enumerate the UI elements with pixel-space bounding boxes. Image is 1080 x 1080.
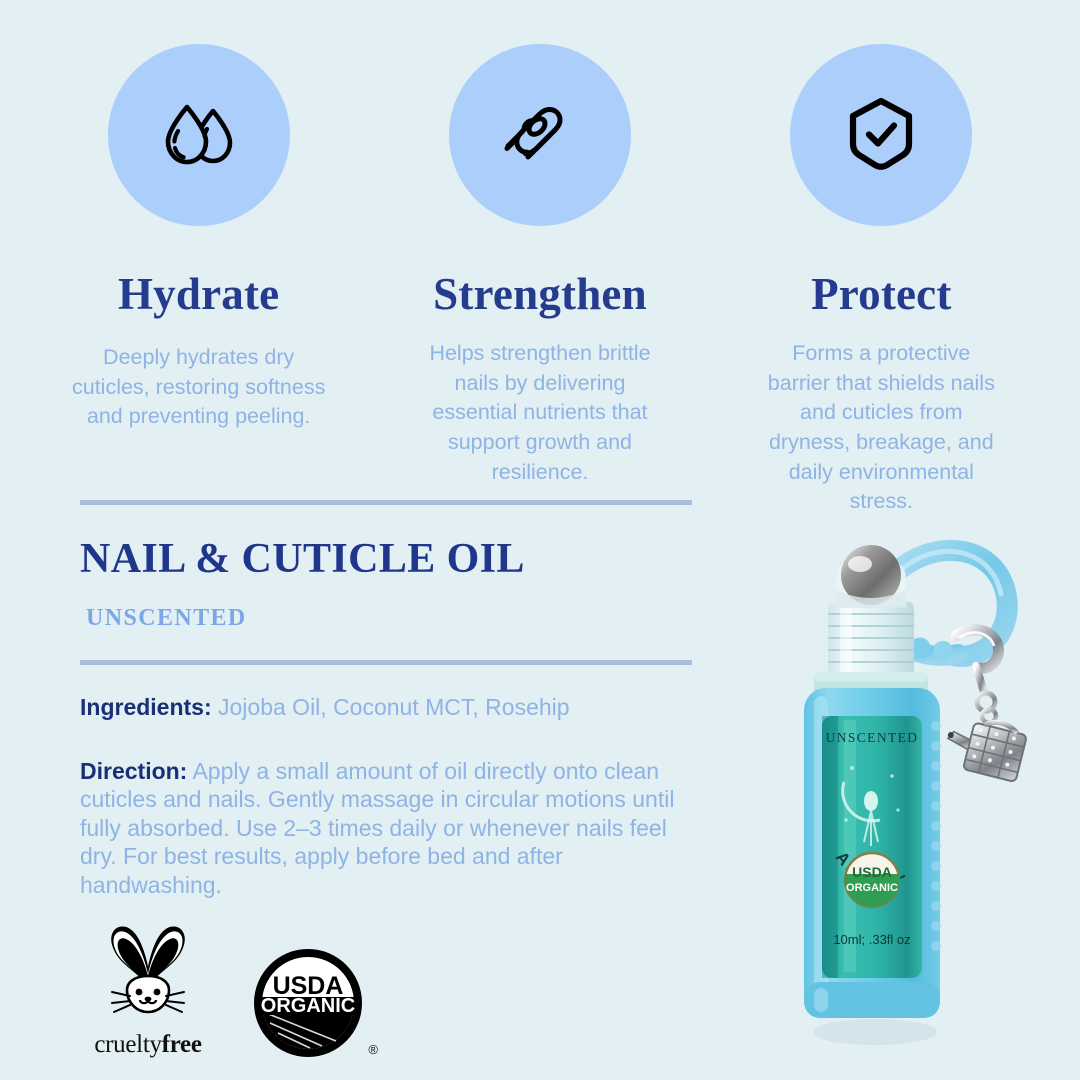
page-title: NAIL & CUTICLE OIL <box>80 537 692 581</box>
benefit-icon-circle <box>449 44 631 226</box>
product-details-section: NAIL & CUTICLE OIL UNSCENTED Ingredients… <box>0 500 1080 1080</box>
benefit-description: Helps strengthen brittle nails by delive… <box>414 339 666 487</box>
registered-mark: ® <box>368 1042 378 1057</box>
cruelty-free-text-bold: free <box>162 1031 202 1058</box>
product-variant: UNSCENTED <box>86 605 692 632</box>
benefits-row: Hydrate Deeply hydrates dry cuticles, re… <box>0 0 1080 517</box>
cruelty-free-bunny-icon <box>86 1015 210 1032</box>
fingernail-icon <box>492 87 588 183</box>
direction-label: Direction: <box>80 758 187 784</box>
benefit-title: Hydrate <box>118 272 279 317</box>
product-bottle-image: UNSCENTED ALL OILS USDA ORGANIC <box>770 520 1070 1065</box>
benefit-description: Deeply hydrates dry cuticles, restoring … <box>69 343 329 432</box>
divider-top <box>80 500 692 505</box>
cruelty-free-badge: crueltyfree <box>86 924 210 1059</box>
benefit-title: Strengthen <box>433 272 647 317</box>
svg-text:USDA: USDA <box>852 864 892 880</box>
certification-badges: crueltyfree USDA ORGANIC ® <box>86 924 364 1059</box>
bottle-volume-text: 10ml; .33fl oz <box>833 932 910 947</box>
svg-text:ORGANIC: ORGANIC <box>846 882 898 894</box>
bottle-label-variant: UNSCENTED <box>826 730 919 745</box>
benefit-strengthen: Strengthen Helps strengthen brittle nail… <box>369 44 710 517</box>
benefit-protect: Protect Forms a protective barrier that … <box>711 44 1052 517</box>
benefit-icon-circle <box>790 44 972 226</box>
cruelty-free-label: crueltyfree <box>86 1031 210 1059</box>
benefit-icon-circle <box>108 44 290 226</box>
ingredients-line: Ingredients: Jojoba Oil, Coconut MCT, Ro… <box>80 693 692 722</box>
ingredients-value: Jojoba Oil, Coconut MCT, Rosehip <box>218 694 570 720</box>
benefit-description: Forms a protective barrier that shields … <box>759 339 1004 517</box>
water-drops-icon <box>151 87 247 183</box>
usda-seal-bottom-text: ORGANIC <box>261 995 355 1017</box>
benefit-title: Protect <box>811 272 951 317</box>
divider-bottom <box>80 660 692 665</box>
benefit-hydrate: Hydrate Deeply hydrates dry cuticles, re… <box>28 44 369 517</box>
ingredients-label: Ingredients: <box>80 694 212 720</box>
usda-organic-seal-icon: USDA ORGANIC <box>252 1046 364 1063</box>
product-info-column: NAIL & CUTICLE OIL UNSCENTED Ingredients… <box>80 500 692 899</box>
shield-check-icon <box>833 87 929 183</box>
bottle-usda-seal-icon: USDA ORGANIC <box>845 853 899 907</box>
cruelty-free-text-light: cruelty <box>94 1031 161 1058</box>
direction-line: Direction: Apply a small amount of oil d… <box>80 757 692 900</box>
usda-organic-badge: USDA ORGANIC ® <box>252 947 364 1059</box>
